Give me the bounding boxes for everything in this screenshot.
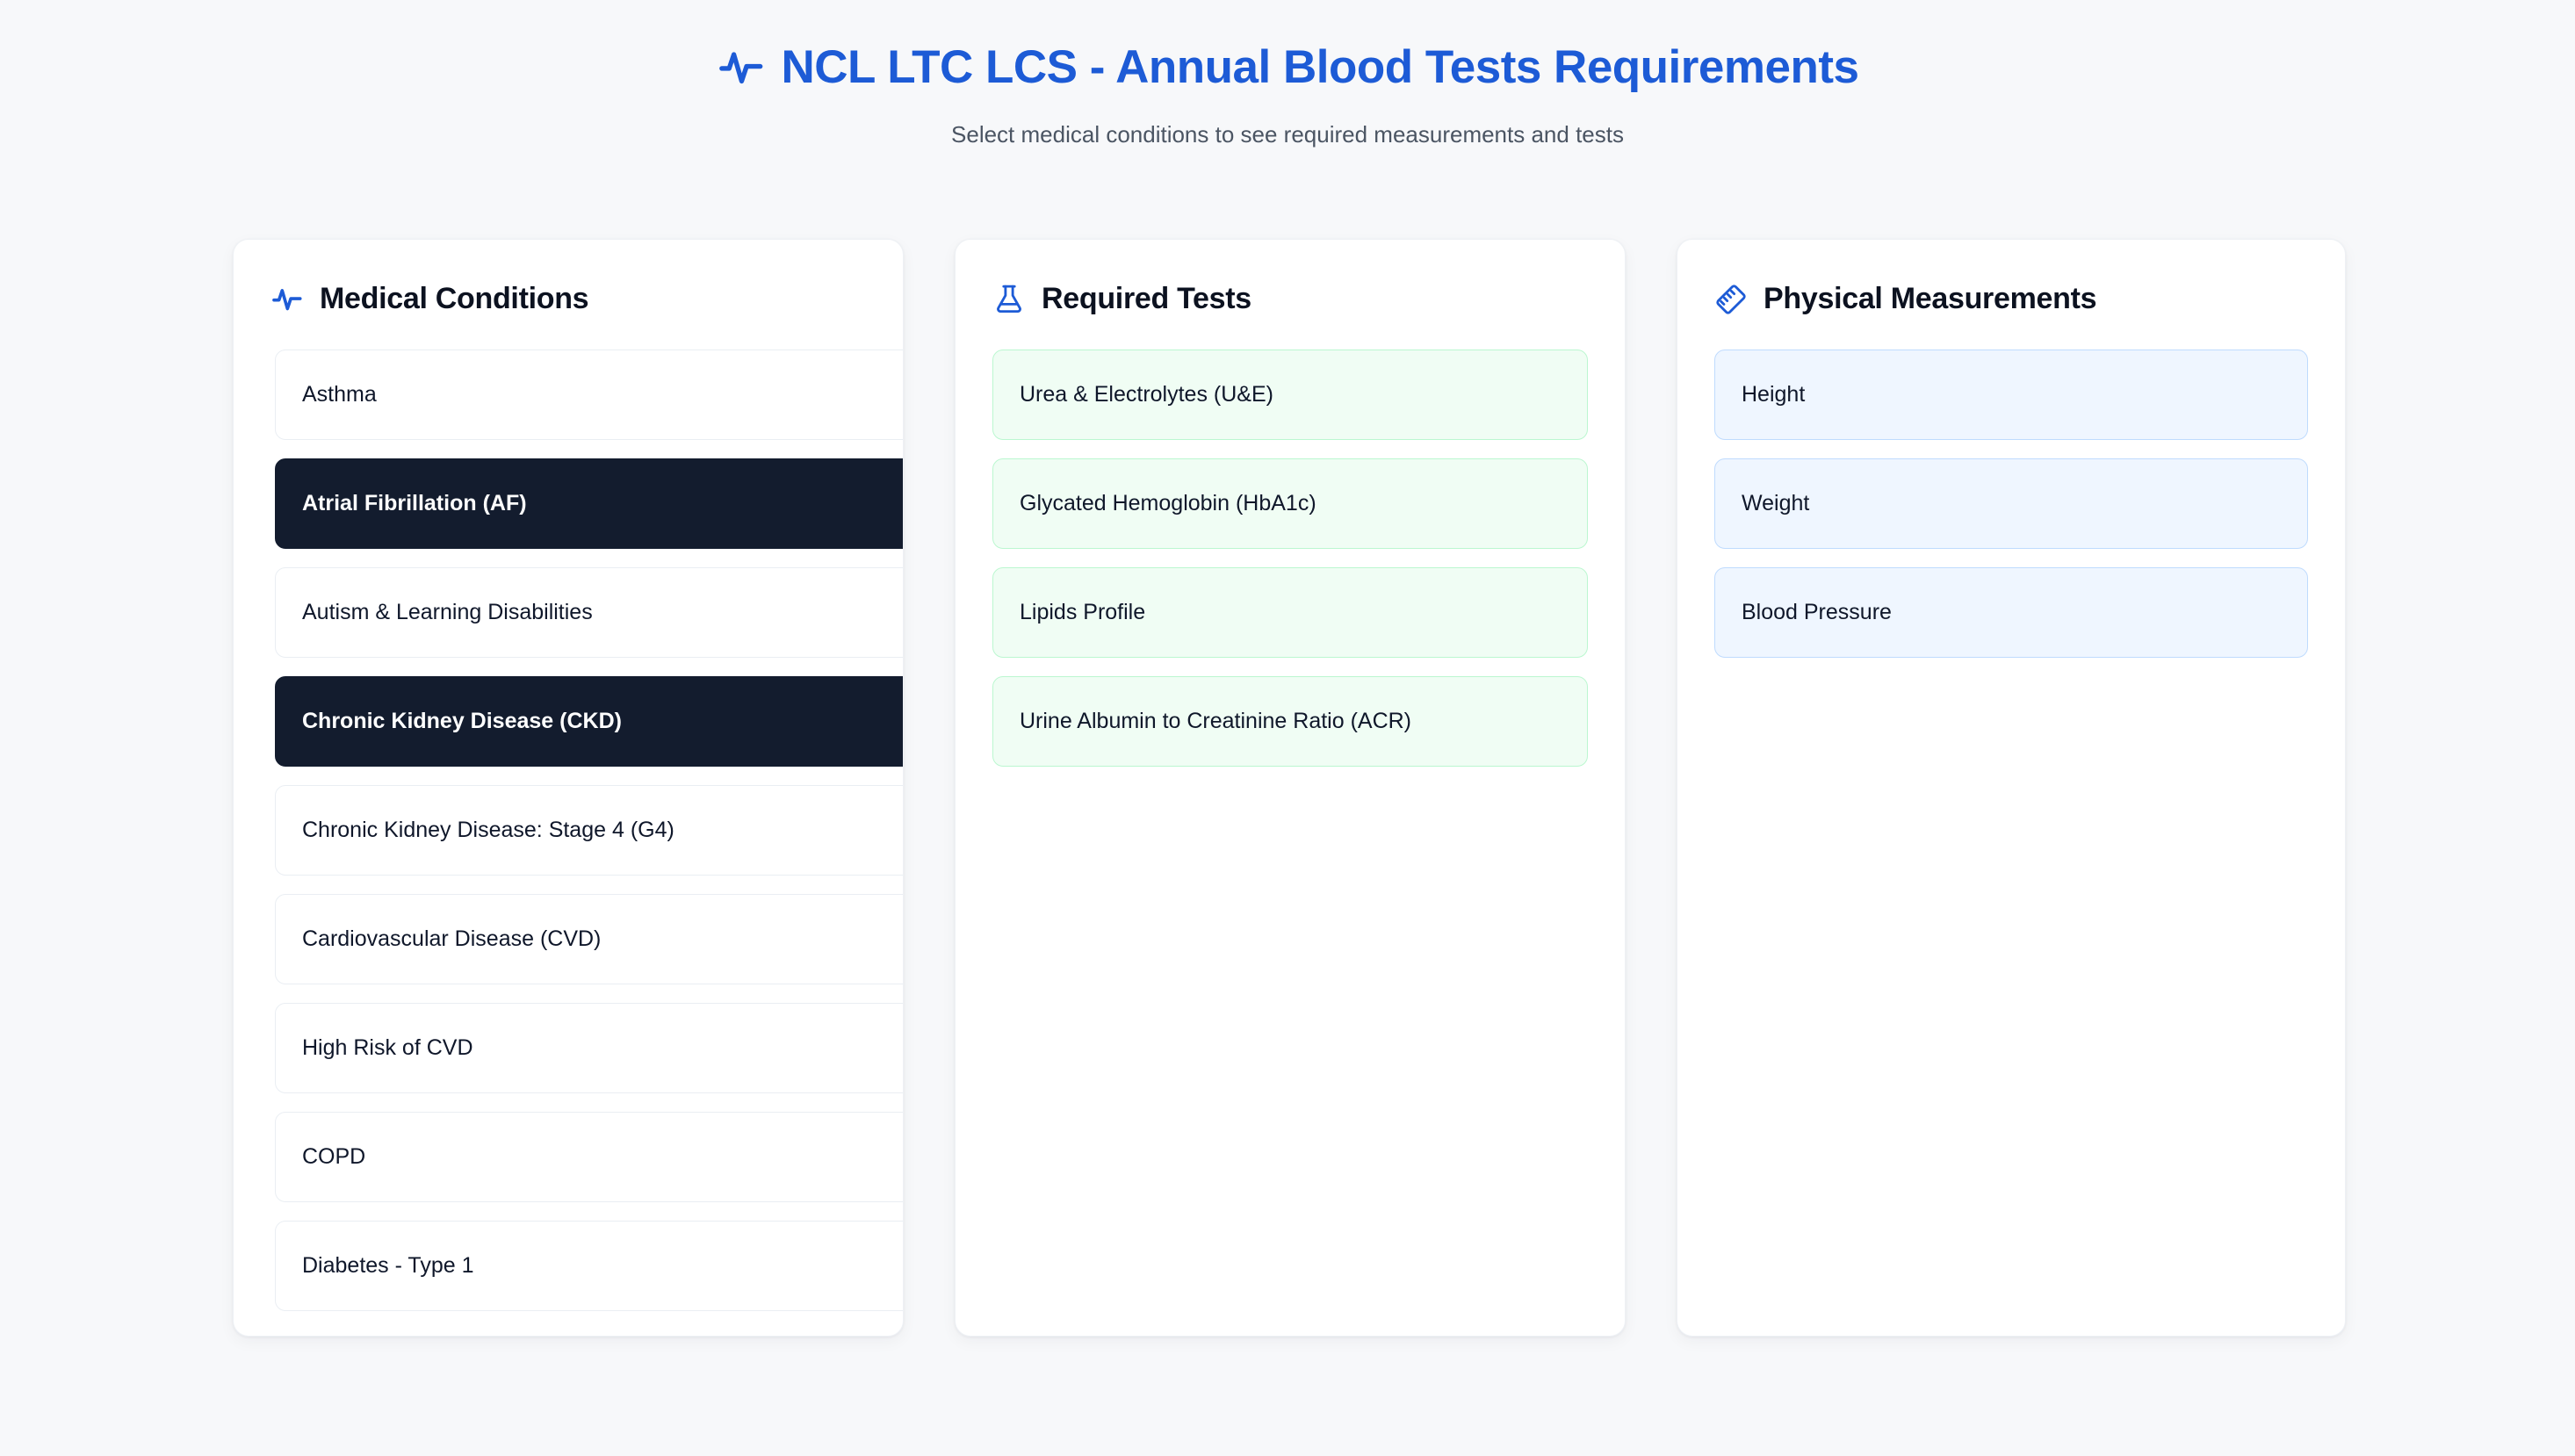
condition-item[interactable]: Cardiovascular Disease (CVD) [275, 894, 904, 984]
condition-item-label: Cardiovascular Disease (CVD) [302, 926, 601, 952]
measurement-item[interactable]: Weight [1714, 458, 2308, 549]
physical-measurements-list: HeightWeightBlood Pressure [1677, 350, 2345, 658]
condition-item-label: Asthma [302, 382, 377, 407]
test-item-label: Lipids Profile [1020, 600, 1145, 625]
test-item-label: Glycated Hemoglobin (HbA1c) [1020, 491, 1316, 516]
required-tests-panel: Required Tests Urea & Electrolytes (U&E)… [955, 239, 1626, 1337]
page-title: NCL LTC LCS - Annual Blood Tests Require… [782, 42, 1859, 93]
activity-heartbeat-icon [270, 283, 304, 316]
required-tests-list: Urea & Electrolytes (U&E)Glycated Hemogl… [956, 350, 1625, 767]
condition-item-label: High Risk of CVD [302, 1035, 473, 1061]
condition-item-label: COPD [302, 1144, 365, 1170]
measurement-item-label: Weight [1742, 491, 1809, 516]
panel-title: Required Tests [1042, 282, 1251, 316]
required-tests-header: Required Tests [956, 240, 1625, 316]
condition-item[interactable]: Autism & Learning Disabilities [275, 567, 904, 658]
measurement-item-label: Height [1742, 382, 1805, 407]
test-item[interactable]: Lipids Profile [992, 567, 1588, 658]
medical-conditions-panel: Medical Conditions AsthmaAtrial Fibrilla… [233, 239, 904, 1337]
measurement-item[interactable]: Blood Pressure [1714, 567, 2308, 658]
test-item[interactable]: Glycated Hemoglobin (HbA1c) [992, 458, 1588, 549]
flask-icon [992, 283, 1026, 316]
measurement-item[interactable]: Height [1714, 350, 2308, 440]
panel-title: Physical Measurements [1764, 282, 2096, 316]
title-row: NCL LTC LCS - Annual Blood Tests Require… [0, 42, 2575, 93]
condition-item[interactable]: Atrial Fibrillation (AF) [275, 458, 904, 549]
condition-item-label: Diabetes - Type 1 [302, 1253, 473, 1279]
ruler-icon [1714, 283, 1748, 316]
panels-row: Medical Conditions AsthmaAtrial Fibrilla… [233, 239, 2346, 1337]
test-item-label: Urine Albumin to Creatinine Ratio (ACR) [1020, 709, 1411, 734]
page-header: NCL LTC LCS - Annual Blood Tests Require… [0, 0, 2575, 148]
condition-item[interactable]: Diabetes - Type 1 [275, 1221, 904, 1311]
app-root: NCL LTC LCS - Annual Blood Tests Require… [0, 0, 2575, 1456]
condition-item[interactable]: Chronic Kidney Disease: Stage 4 (G4) [275, 785, 904, 876]
activity-heartbeat-icon [717, 43, 766, 92]
physical-measurements-panel: Physical Measurements HeightWeightBlood … [1677, 239, 2346, 1337]
page-subtitle: Select medical conditions to see require… [0, 121, 2575, 148]
measurement-item-label: Blood Pressure [1742, 600, 1892, 625]
condition-item-label: Chronic Kidney Disease (CKD) [302, 709, 622, 734]
physical-measurements-header: Physical Measurements [1677, 240, 2345, 316]
condition-item-label: Autism & Learning Disabilities [302, 600, 593, 625]
conditions-list[interactable]: AsthmaAtrial Fibrillation (AF)Autism & L… [234, 350, 904, 1311]
condition-item[interactable]: High Risk of CVD [275, 1003, 904, 1093]
condition-item-label: Atrial Fibrillation (AF) [302, 491, 527, 516]
condition-item-label: Chronic Kidney Disease: Stage 4 (G4) [302, 818, 674, 843]
condition-item[interactable]: Asthma [275, 350, 904, 440]
medical-conditions-header: Medical Conditions [234, 240, 903, 316]
condition-item[interactable]: Chronic Kidney Disease (CKD) [275, 676, 904, 767]
test-item[interactable]: Urea & Electrolytes (U&E) [992, 350, 1588, 440]
condition-item[interactable]: COPD [275, 1112, 904, 1202]
test-item[interactable]: Urine Albumin to Creatinine Ratio (ACR) [992, 676, 1588, 767]
panel-title: Medical Conditions [320, 282, 588, 316]
test-item-label: Urea & Electrolytes (U&E) [1020, 382, 1273, 407]
